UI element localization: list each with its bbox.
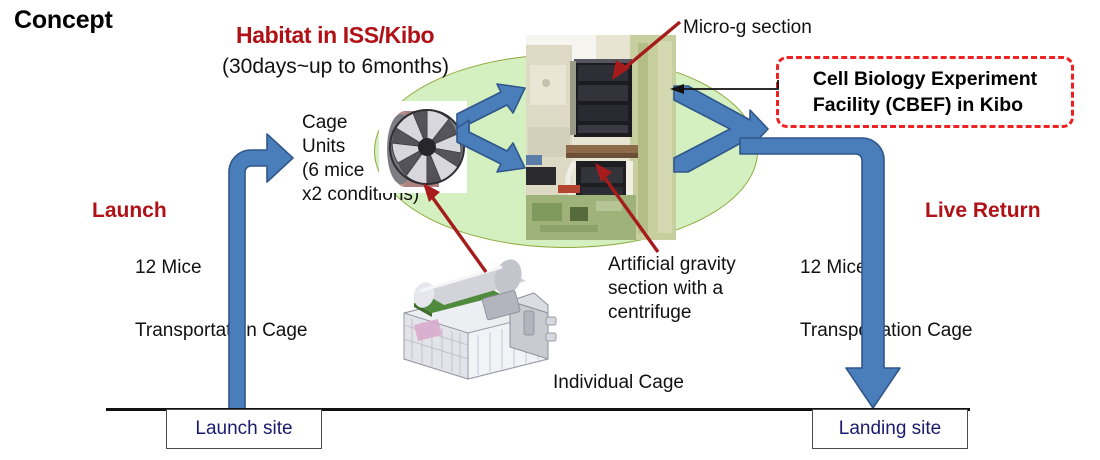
page-title: Concept — [14, 6, 113, 35]
cage-units-line-3: (6 mice — [302, 158, 364, 183]
launch-arrow — [215, 128, 297, 414]
cage-units-line-2: Units — [302, 134, 345, 159]
cbef-pointer-arrow — [668, 78, 780, 100]
live-return-label: Live Return — [925, 199, 1041, 223]
cbef-callout: Cell Biology Experiment Facility (CBEF) … — [776, 56, 1074, 128]
habitat-duration: (30days~up to 6months) — [222, 55, 449, 79]
individual-cage-label: Individual Cage — [553, 370, 684, 395]
return-arrow — [740, 132, 920, 414]
micro-g-label: Micro-g section — [683, 15, 812, 40]
cbef-line-1: Cell Biology Experiment — [813, 66, 1037, 92]
artificial-gravity-pointer-arrow — [588, 158, 664, 254]
cbef-text: Cell Biology Experiment Facility (CBEF) … — [813, 66, 1037, 118]
concept-diagram: Concept Habitat in ISS/Kibo (30days~up t… — [0, 0, 1100, 460]
launch-mice: 12 Mice — [135, 255, 202, 280]
cbef-line-2: Facility (CBEF) in Kibo — [813, 92, 1037, 118]
launch-site-label: Launch site — [195, 418, 292, 440]
cage-unit-pointer-arrow — [416, 178, 494, 274]
launch-label: Launch — [92, 199, 167, 223]
landing-site-box[interactable]: Landing site — [812, 409, 968, 449]
landing-site-label: Landing site — [839, 418, 941, 440]
cage-units-line-1: Cage — [302, 110, 347, 135]
launch-site-box[interactable]: Launch site — [166, 409, 322, 449]
micro-g-pointer-arrow — [604, 20, 684, 82]
individual-cage-cad — [398, 255, 578, 385]
split-arrow — [455, 84, 545, 174]
habitat-heading: Habitat in ISS/Kibo — [236, 22, 434, 49]
